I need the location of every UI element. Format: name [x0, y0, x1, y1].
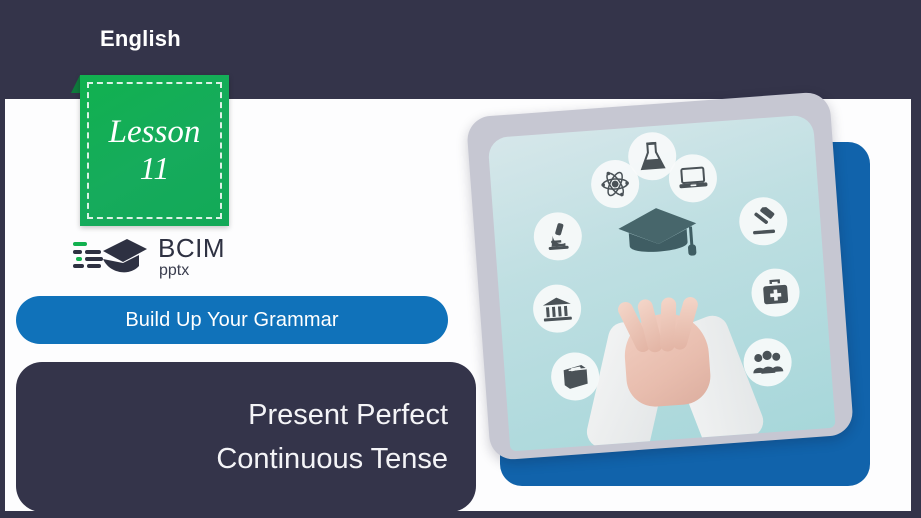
- graduation-cap-logo-icon: [73, 233, 153, 281]
- lesson-number: 11: [140, 152, 170, 186]
- logo-sub-text: pptx: [159, 263, 225, 279]
- topic-title-box: Present Perfect Continuous Tense: [16, 362, 476, 512]
- illustration-stack: [470, 96, 910, 508]
- section-banner[interactable]: Build Up Your Grammar: [16, 296, 448, 344]
- logo-brand-text: BCIM: [158, 235, 225, 261]
- education-careers-photo: [487, 114, 835, 451]
- clasped-hands: [496, 233, 835, 451]
- laptop-icon: [667, 153, 718, 204]
- section-banner-label: Build Up Your Grammar: [125, 309, 338, 332]
- lesson-card: Lesson 11: [80, 75, 229, 226]
- lesson-label: Lesson: [109, 115, 201, 150]
- slide-canvas: English Lesson 11 BCIM pptx Build Up You…: [0, 0, 921, 518]
- corner-fold-decoration: [71, 75, 80, 93]
- brand-logo: BCIM pptx: [73, 233, 238, 283]
- topic-title-line-1: Present Perfect: [248, 393, 448, 437]
- page-title: English: [100, 28, 181, 50]
- topic-title-line-2: Continuous Tense: [216, 437, 448, 481]
- graduation-cap-icon: [613, 201, 703, 265]
- lesson-card-body: Lesson 11: [80, 75, 229, 226]
- logo-wordmark: BCIM pptx: [158, 235, 225, 279]
- photo-frame: [466, 91, 854, 461]
